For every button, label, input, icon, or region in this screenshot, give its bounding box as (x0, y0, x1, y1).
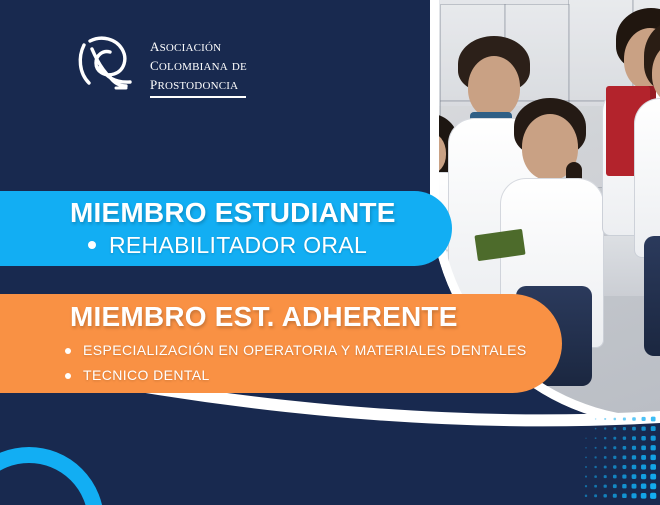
bullet-dot-icon (88, 241, 96, 249)
list-item-label: ESPECIALIZACIÓN EN OPERATORIA Y MATERIAL… (83, 338, 527, 363)
banner-bullet-list: ESPECIALIZACIÓN EN OPERATORIA Y MATERIAL… (65, 338, 527, 388)
list-item: ESPECIALIZACIÓN EN OPERATORIA Y MATERIAL… (65, 338, 527, 363)
logo-underline (150, 96, 246, 98)
list-item: TECNICO DENTAL (65, 363, 527, 388)
banner-title: MIEMBRO EST. ADHERENTE (70, 301, 458, 333)
list-item-label: TECNICO DENTAL (83, 363, 210, 388)
banner-bullet-list: REHABILITADOR ORAL (88, 231, 367, 259)
banner-title: MIEMBRO ESTUDIANTE (70, 197, 396, 229)
list-item-label: REHABILITADOR ORAL (109, 231, 367, 259)
bullet-dot-icon (65, 373, 71, 379)
list-item: REHABILITADOR ORAL (88, 231, 367, 259)
bullet-dot-icon (65, 348, 71, 354)
banner-miembro-est-adherente: MIEMBRO EST. ADHERENTE ESPECIALIZACIÓN E… (0, 294, 562, 393)
logo-line-1: Asociación (150, 37, 247, 56)
prostodoncia-mark-icon (76, 33, 140, 95)
brand-logo: Asociación Colombiana de Prostodoncia (76, 33, 247, 98)
logo-line-3: Prostodoncia (150, 75, 247, 94)
logo-line-2: Colombiana de (150, 56, 247, 75)
membership-poster: Asociación Colombiana de Prostodoncia MI… (0, 0, 660, 505)
logo-wordmark: Asociación Colombiana de Prostodoncia (150, 37, 247, 98)
halftone-dot-grid (582, 415, 660, 505)
banner-miembro-estudiante: MIEMBRO ESTUDIANTE REHABILITADOR ORAL (0, 191, 452, 266)
